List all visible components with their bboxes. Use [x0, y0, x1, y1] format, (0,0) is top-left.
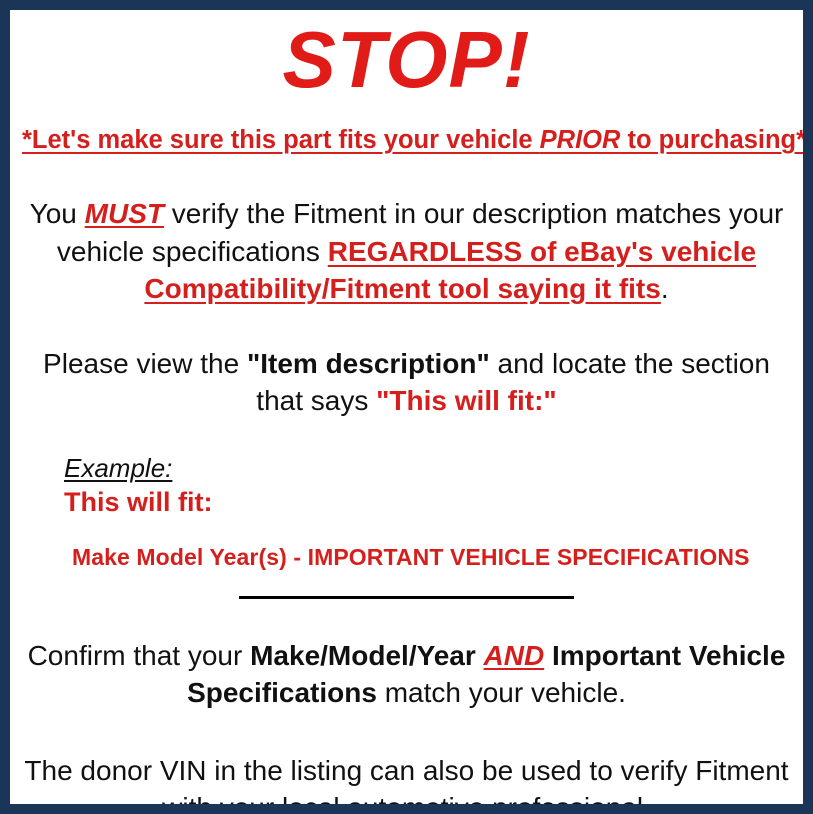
make-model-year-label: Make/Model/Year — [250, 640, 476, 671]
example-label-row: Example: — [64, 453, 791, 484]
confirm-paragraph: Confirm that your Make/Model/Year AND Im… — [22, 637, 791, 711]
confirm-space1 — [476, 640, 484, 671]
desc-part1: Please view the — [43, 348, 247, 379]
tagline-emphasis: PRIOR — [540, 126, 621, 154]
this-will-fit-quote: "This will fit:" — [376, 385, 557, 416]
example-fit-heading: This will fit: — [64, 487, 791, 518]
must-part1: You — [30, 198, 85, 229]
tagline-part1: *Let's make sure this part fits your veh… — [22, 126, 540, 154]
confirm-part2: match your vehicle. — [377, 677, 626, 708]
must-emphasis: MUST — [85, 198, 164, 229]
must-part3: . — [661, 273, 669, 304]
and-emphasis: AND — [484, 640, 545, 671]
example-label: Example: — [64, 453, 172, 484]
must-verify-paragraph: You MUST verify the Fitment in our descr… — [22, 195, 791, 307]
tagline: *Let's make sure this part fits your veh… — [22, 126, 791, 155]
divider-row — [22, 596, 791, 599]
notice-content: STOP! *Let's make sure this part fits yo… — [10, 10, 803, 804]
example-specs-line: Make Model Year(s) - IMPORTANT VEHICLE S… — [72, 544, 791, 570]
tagline-part2: to purchasing* — [620, 126, 806, 154]
section-divider — [239, 596, 574, 599]
item-description-paragraph: Please view the "Item description" and l… — [22, 345, 791, 419]
item-description-label: "Item description" — [247, 348, 490, 379]
page-title: STOP! — [22, 10, 791, 100]
donor-vin-paragraph: The donor VIN in the listing can also be… — [22, 752, 791, 814]
confirm-space2 — [544, 640, 552, 671]
fitment-notice-card: STOP! *Let's make sure this part fits yo… — [0, 0, 813, 814]
example-block: Example: This will fit: Make Model Year(… — [22, 453, 791, 570]
confirm-part1: Confirm that your — [28, 640, 251, 671]
